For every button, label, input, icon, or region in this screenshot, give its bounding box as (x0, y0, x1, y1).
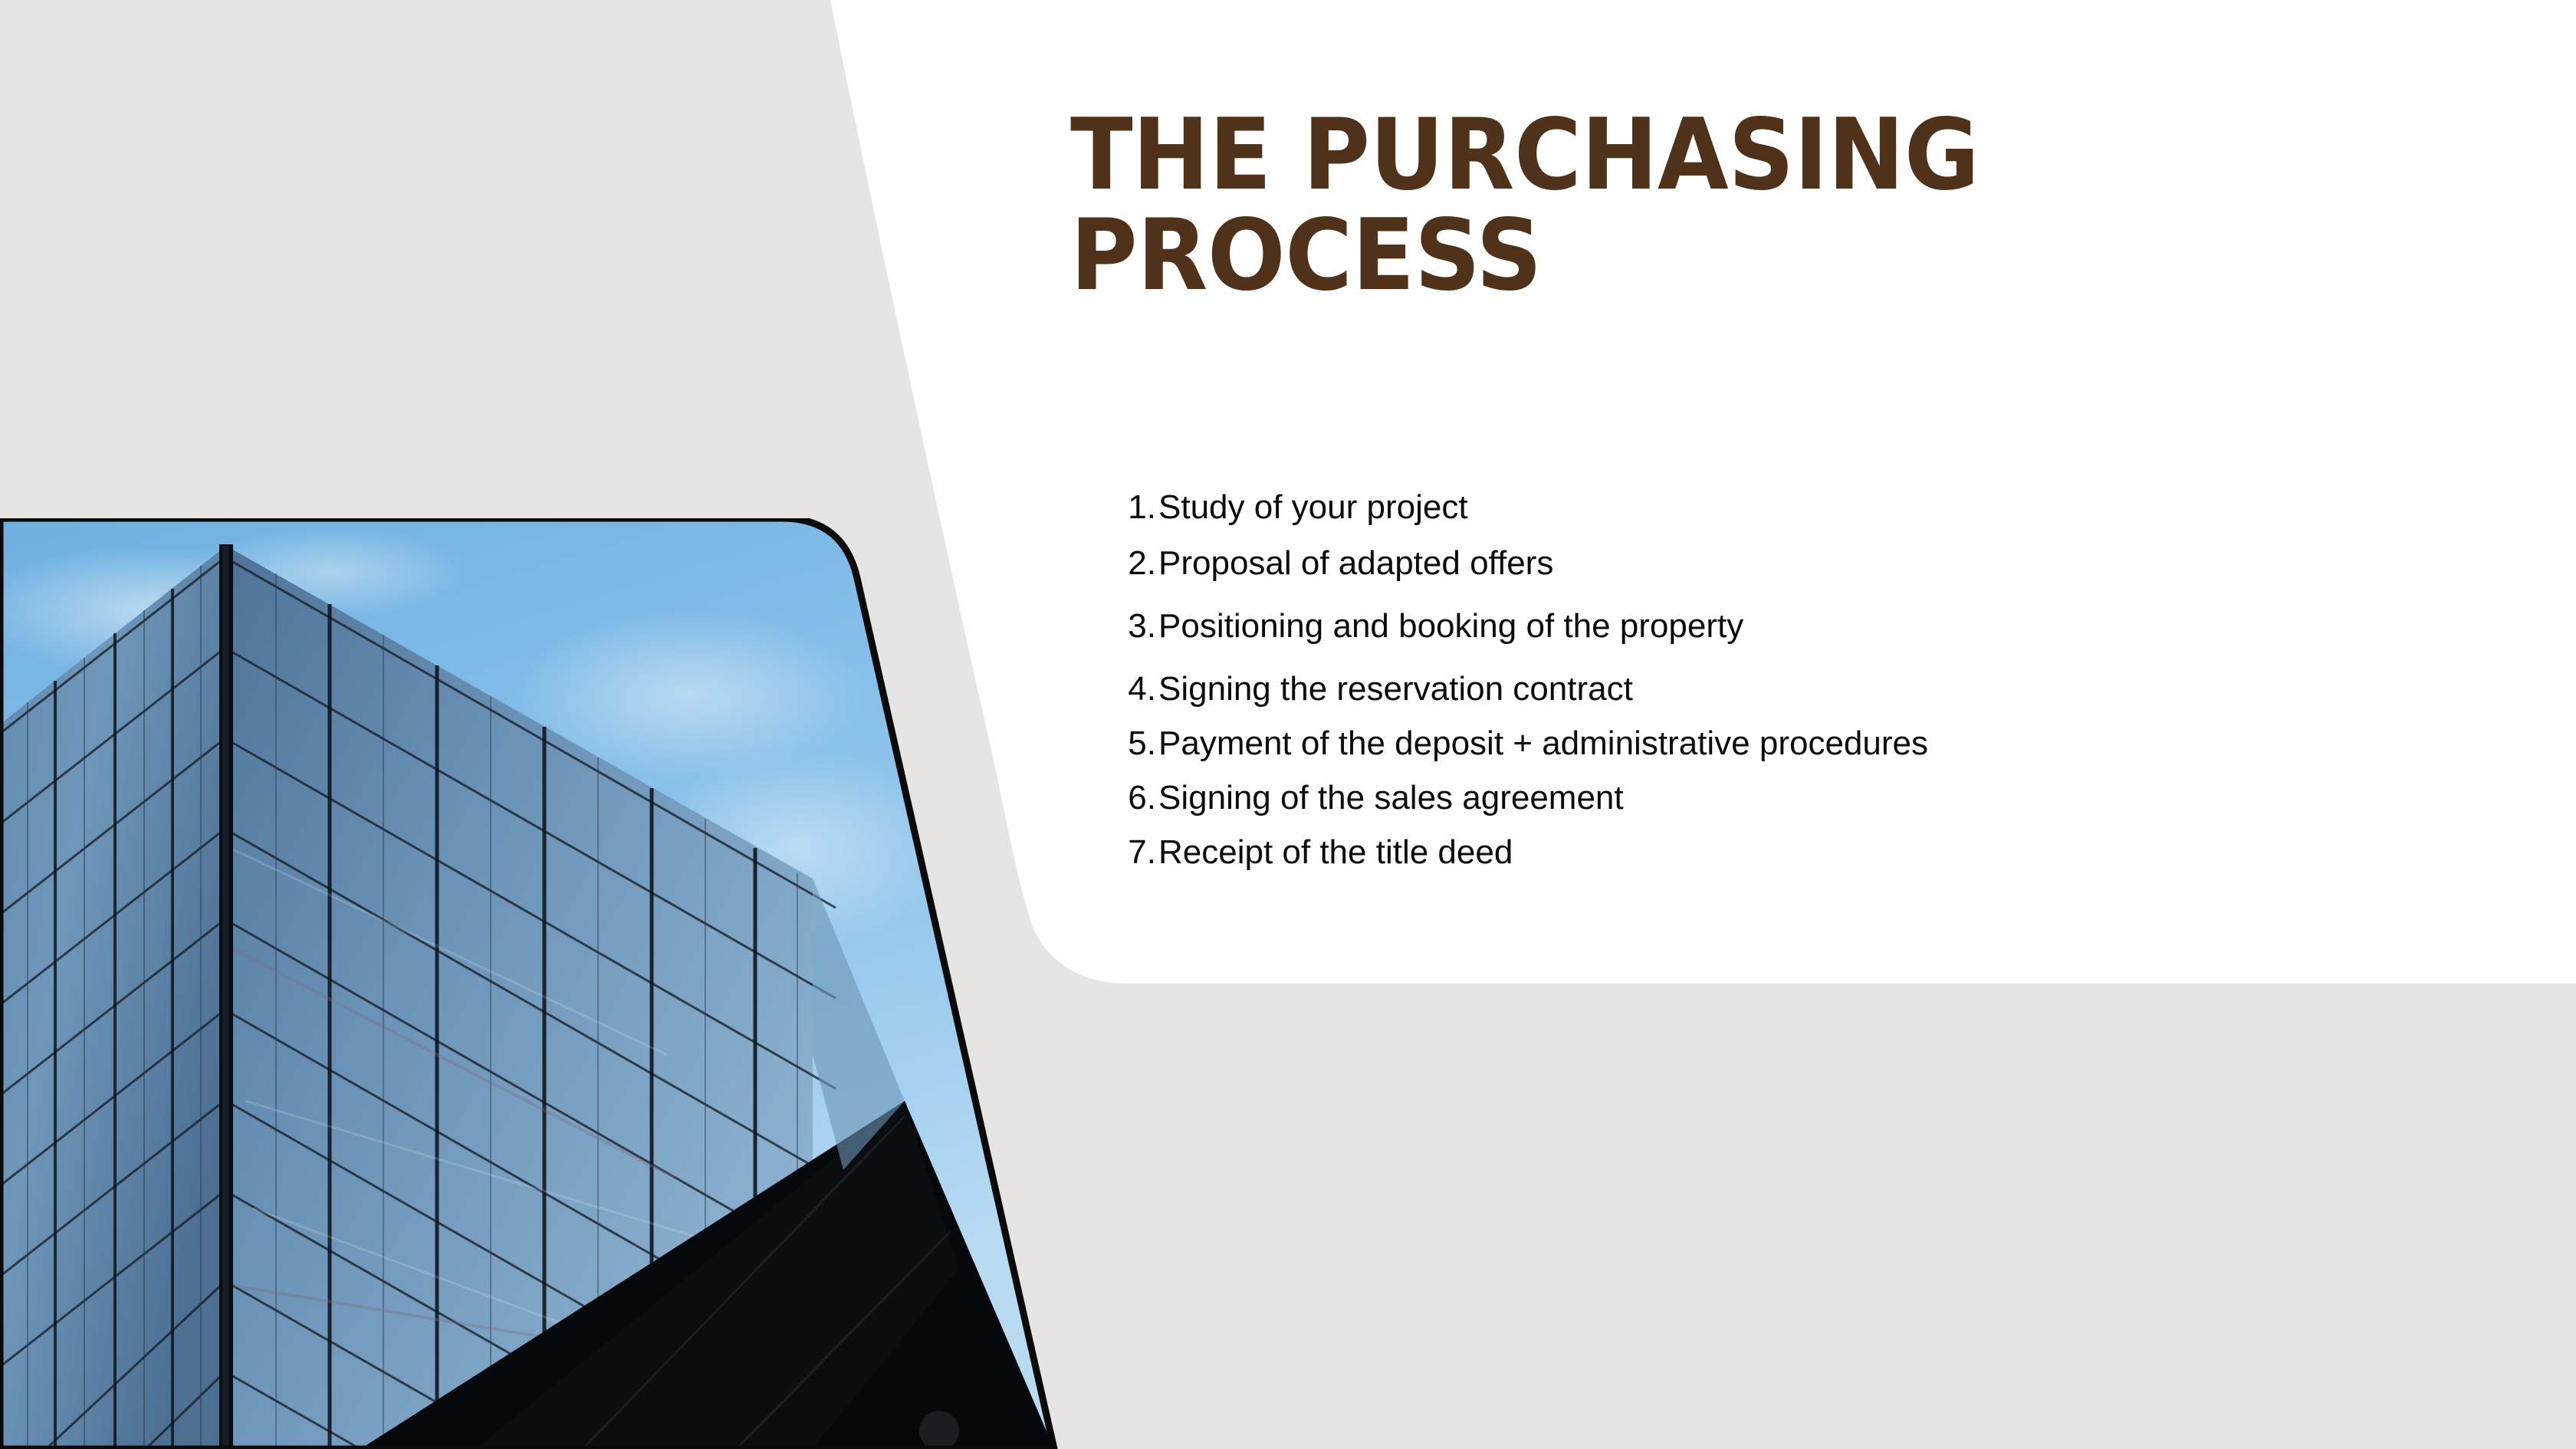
list-item-number: 2. (1113, 547, 1156, 580)
list-item-label: Receipt of the title deed (1156, 836, 1513, 869)
list-item-label: Proposal of adapted offers (1156, 547, 1553, 580)
list-item-number: 3. (1113, 609, 1156, 643)
list-item: 2. Proposal of adapted offers (1113, 547, 2187, 580)
list-item-label: Signing the reservation contract (1156, 672, 1633, 706)
list-item: 7. Receipt of the title deed (1113, 836, 2187, 869)
list-item: 3. Positioning and booking of the proper… (1113, 609, 2187, 643)
slide-canvas: THE PURCHASING PROCESS 1. Study of your … (0, 0, 2576, 1449)
list-item-label: Study of your project (1156, 491, 1468, 524)
list-item: 6. Signing of the sales agreement (1113, 781, 2187, 815)
list-item-number: 4. (1113, 672, 1156, 706)
page-title: THE PURCHASING PROCESS (1070, 106, 2088, 306)
purchasing-process-list: 1. Study of your project 2. Proposal of … (1113, 491, 2187, 869)
list-item-label: Signing of the sales agreement (1156, 781, 1624, 815)
list-item-label: Payment of the deposit + administrative … (1156, 727, 1928, 761)
list-item-label: Positioning and booking of the property (1156, 609, 1743, 643)
list-item-number: 1. (1113, 491, 1156, 524)
list-item: 1. Study of your project (1113, 491, 2187, 524)
list-item-number: 7. (1113, 836, 1156, 869)
list-item-number: 5. (1113, 727, 1156, 761)
list-item: 4. Signing the reservation contract (1113, 672, 2187, 706)
glass-office-building-photo (0, 518, 1066, 1449)
list-item-number: 6. (1113, 781, 1156, 815)
list-item: 5. Payment of the deposit + administrati… (1113, 727, 2187, 761)
